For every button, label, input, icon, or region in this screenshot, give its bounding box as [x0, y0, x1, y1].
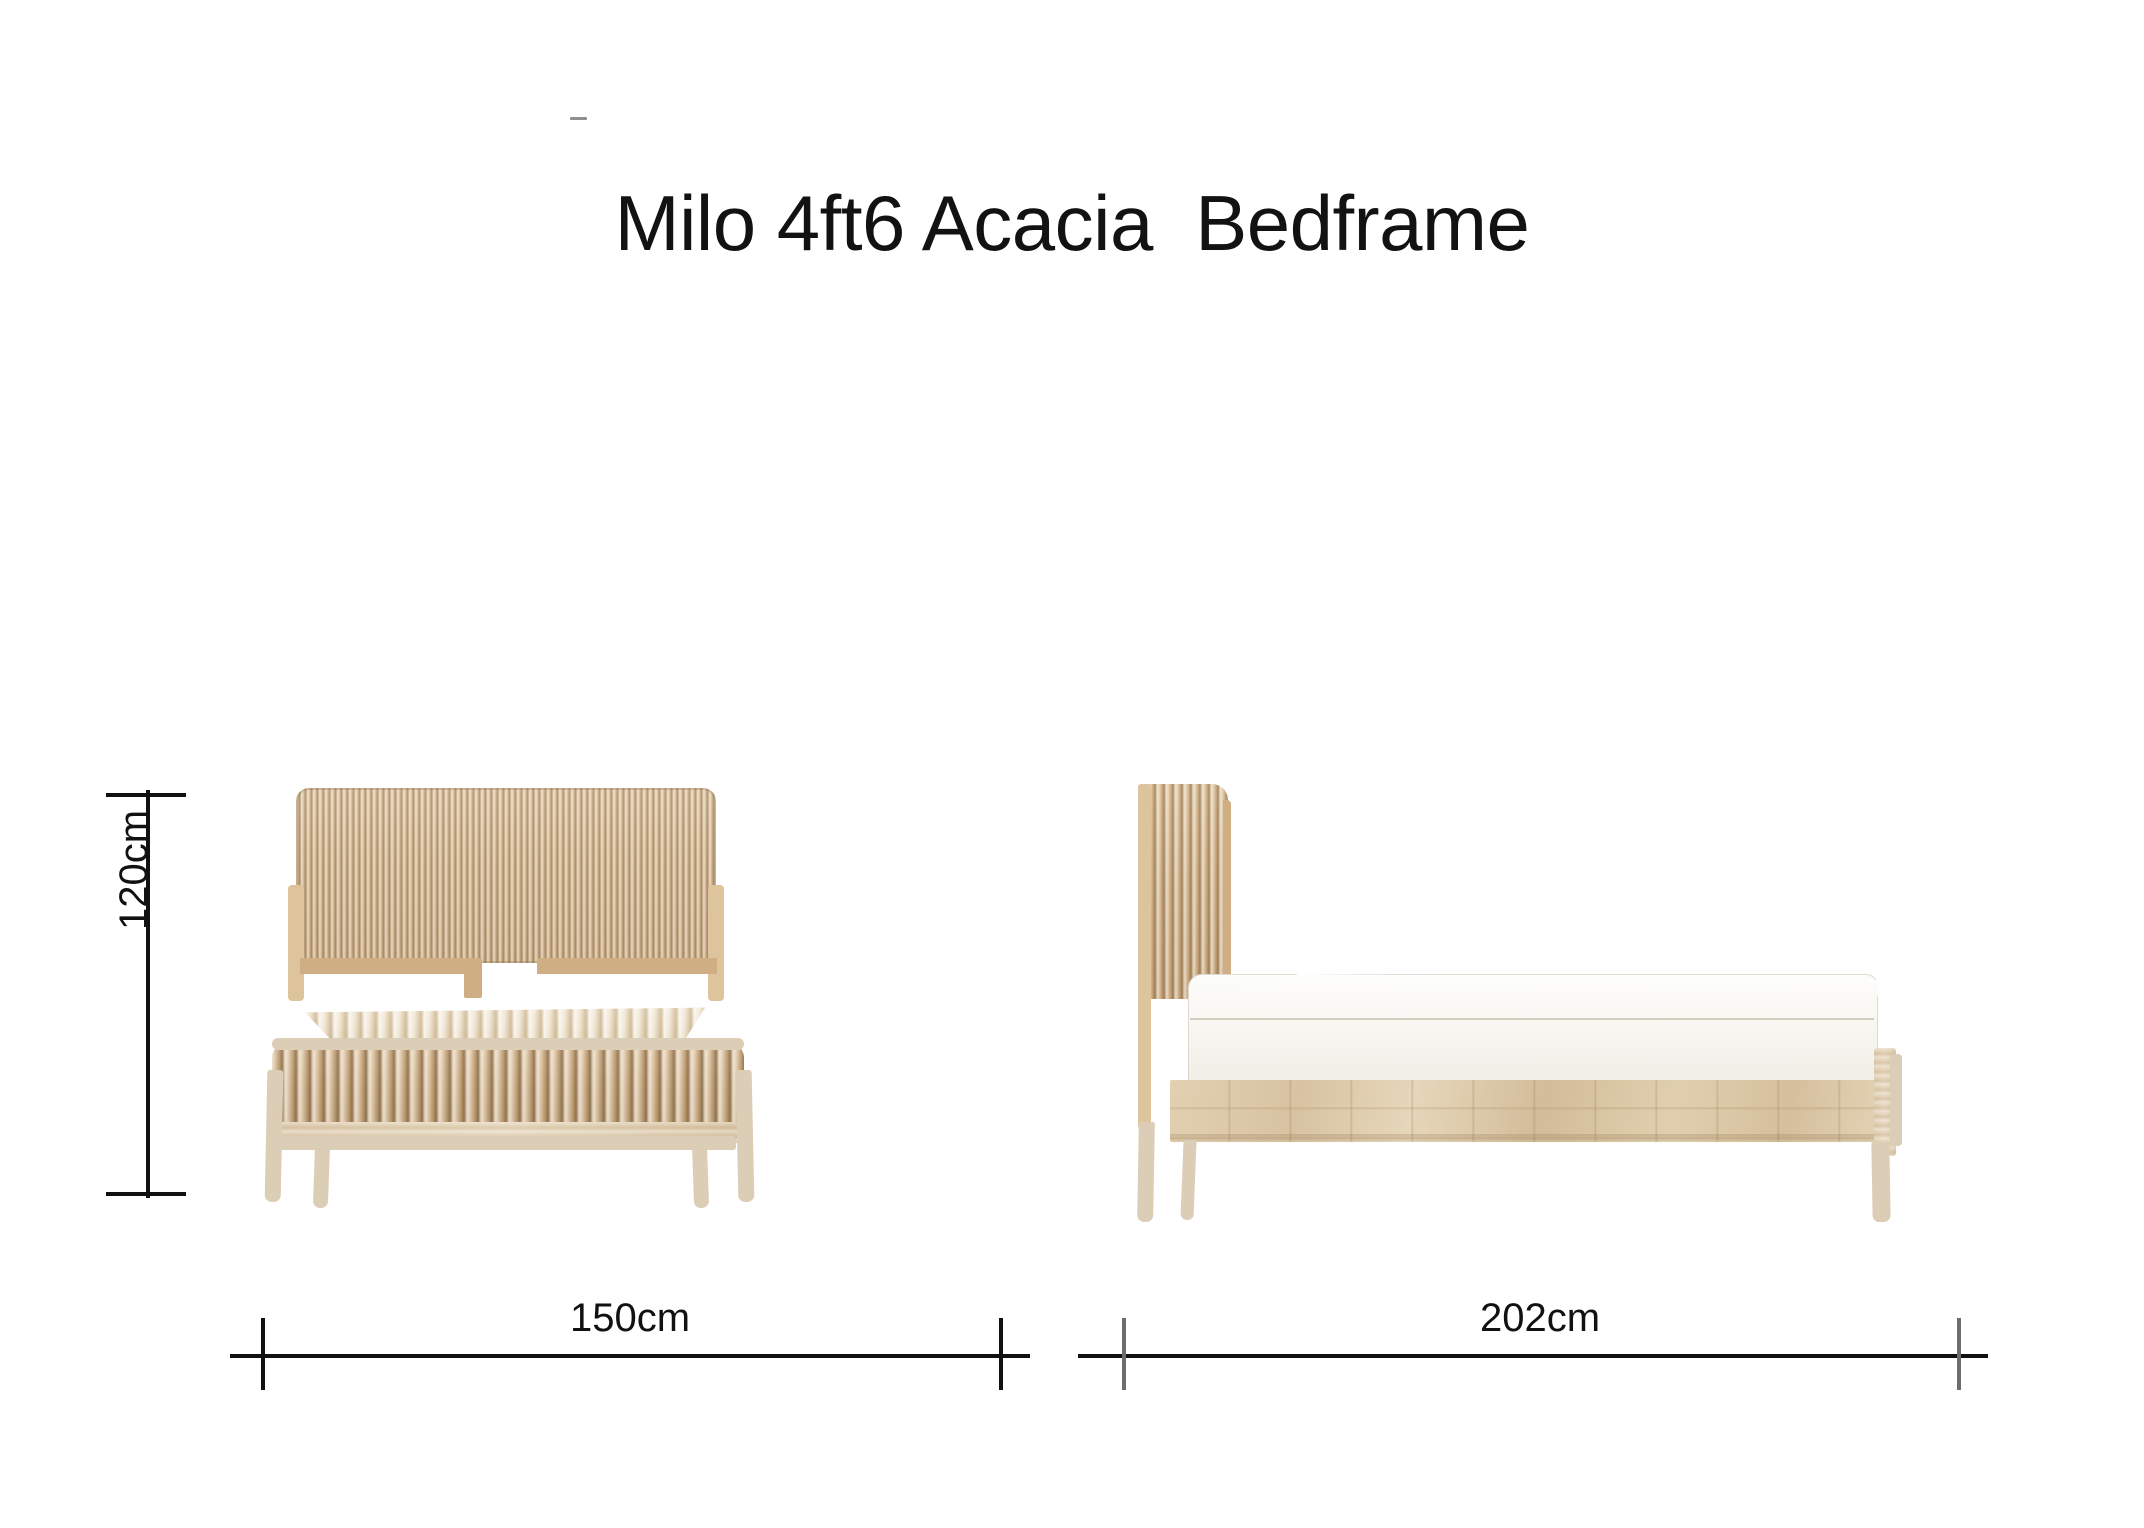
leg-front-left — [265, 1070, 284, 1202]
height-dimension-label: 120cm — [112, 810, 157, 930]
length-dimension-tick-left — [1122, 1318, 1126, 1390]
footboard-panel — [272, 1042, 744, 1134]
headboard-post-side — [1138, 784, 1151, 1129]
footboard-stretcher — [280, 1136, 736, 1150]
leg-head-side — [1137, 1122, 1155, 1222]
width-dimension-label: 150cm — [430, 1296, 830, 1341]
footboard-top-cap — [272, 1038, 744, 1050]
width-dimension-tick-left — [261, 1318, 265, 1390]
headboard-center-stile — [464, 958, 482, 998]
headboard-panel-front — [296, 788, 716, 963]
height-dimension-tick-bottom — [106, 1192, 186, 1196]
headboard-rail-left — [300, 958, 464, 974]
side-rail-shadow — [1170, 1134, 1885, 1143]
headboard-face-edge — [1223, 800, 1231, 1000]
leg-foot-side — [1871, 1142, 1890, 1222]
foot-post-outer-face — [1890, 1054, 1902, 1146]
mattress-piping-seam — [1190, 1018, 1874, 1020]
headboard-post-right — [708, 885, 724, 1001]
headboard-rail-right — [537, 958, 717, 974]
length-dimension-line — [1078, 1354, 1988, 1358]
leg-back-left — [313, 1142, 330, 1208]
leg-head-inner-side — [1180, 1140, 1196, 1220]
stray-mark-artifact — [570, 117, 587, 120]
width-dimension-line — [230, 1354, 1030, 1358]
page-title: Milo 4ft6 Acacia Bedframe — [0, 178, 2144, 269]
side-elevation-illustration — [1130, 770, 1960, 1250]
leg-back-right — [692, 1142, 709, 1208]
headboard-panel-side — [1140, 784, 1228, 999]
width-dimension-tick-right — [999, 1318, 1003, 1390]
length-dimension-tick-right — [1957, 1318, 1961, 1390]
height-dimension-tick-top — [106, 793, 186, 797]
front-elevation-illustration — [250, 770, 1010, 1250]
length-dimension-label: 202cm — [1240, 1296, 1840, 1341]
dimension-diagram-page: Milo 4ft6 Acacia Bedframe — [0, 0, 2144, 1528]
leg-front-right — [736, 1070, 755, 1202]
side-rail-planks — [1170, 1080, 1885, 1142]
headboard-post-left — [288, 885, 304, 1001]
